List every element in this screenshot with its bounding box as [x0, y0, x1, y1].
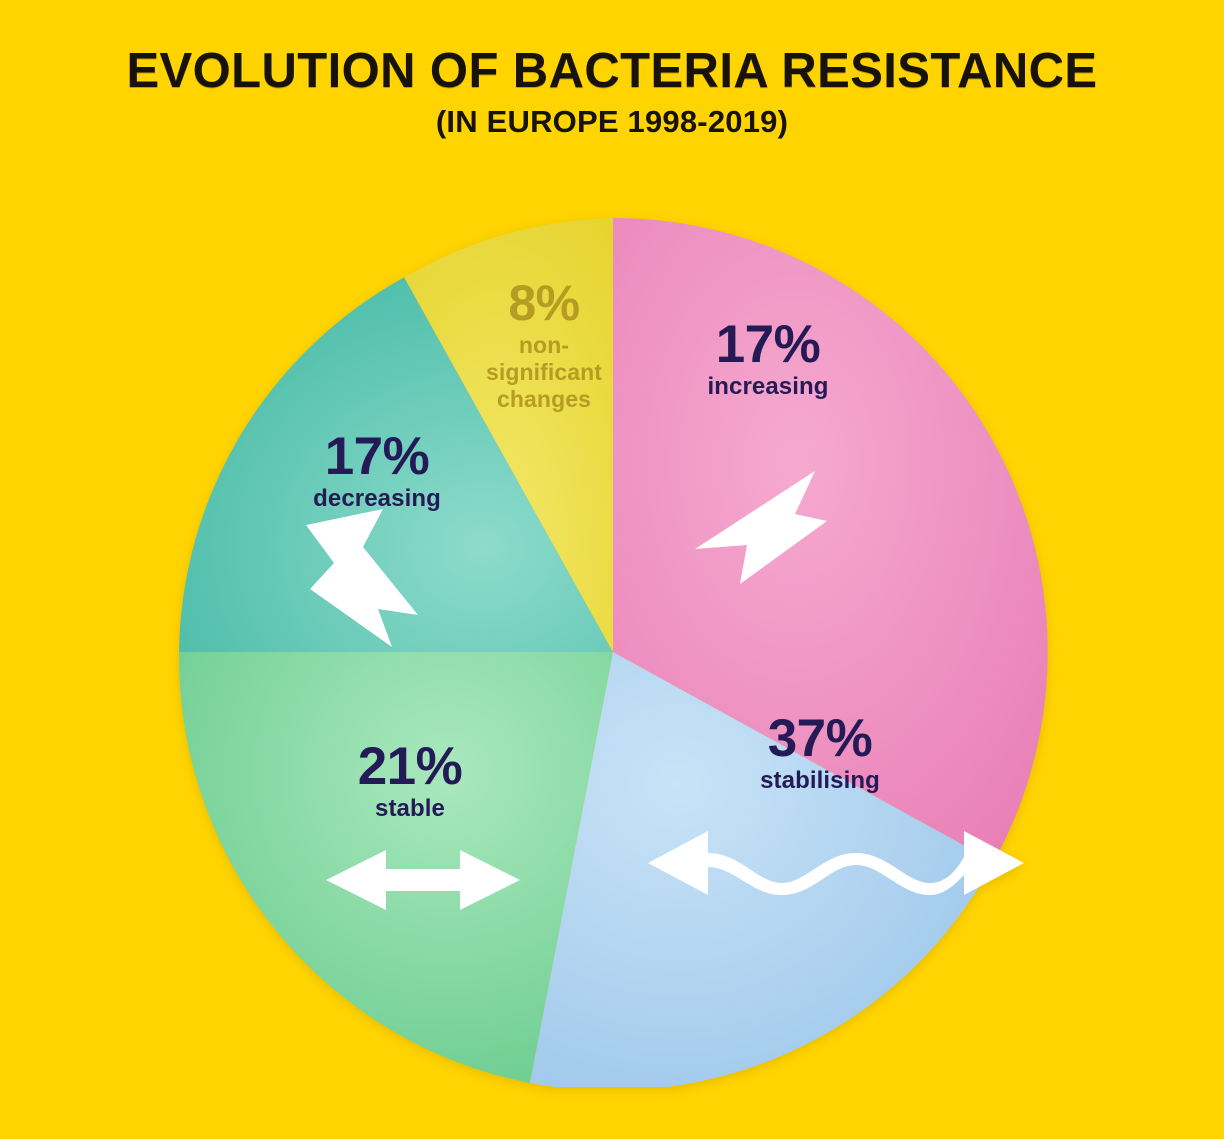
- page-subtitle: (IN EUROPE 1998-2019): [0, 104, 1224, 140]
- title-block: EVOLUTION OF BACTERIA RESISTANCE (IN EUR…: [0, 46, 1224, 140]
- page-title: EVOLUTION OF BACTERIA RESISTANCE: [0, 46, 1224, 97]
- pie-chart-svg: [178, 217, 1048, 1087]
- chart-canvas: EVOLUTION OF BACTERIA RESISTANCE (IN EUR…: [0, 0, 1224, 1139]
- pie-chart: [178, 217, 1048, 1087]
